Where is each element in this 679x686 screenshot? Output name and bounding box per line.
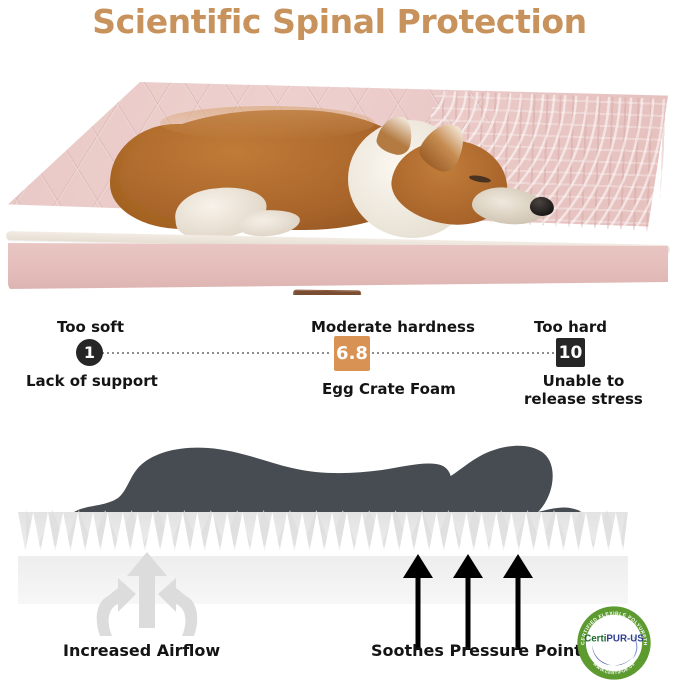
dog-back-highlight <box>160 106 375 140</box>
scale-hard-bottom-line2: release stress <box>524 390 643 408</box>
page-title: Scientific Spinal Protection <box>0 0 679 44</box>
scale-track-right <box>372 352 558 354</box>
scale-track-left <box>102 352 330 354</box>
badge-wordmark-secondary: PUR-US <box>606 633 644 644</box>
scale-soft-top-label: Too soft <box>57 318 124 336</box>
scale-hard-marker: 10 <box>556 338 585 367</box>
scale-moderate-top-label: Moderate hardness <box>311 318 475 336</box>
scale-soft-bottom-label: Lack of support <box>26 372 158 390</box>
pressure-caption: Soothes Pressure Points <box>371 641 591 660</box>
scale-hard-bottom-label: Unable to release stress <box>524 372 643 408</box>
brand-leather-tag: Bedsure <box>293 290 361 295</box>
certipur-us-badge-icon: CONTAINS CERTIFIED FLEXIBLE POLYURETHANE… <box>572 604 656 682</box>
corgi-dog <box>120 102 540 247</box>
pressure-arrows-icon <box>398 550 543 655</box>
badge-wordmark: CertiPUR-US <box>584 633 644 644</box>
scale-hard-bottom-line1: Unable to <box>543 372 625 390</box>
airflow-caption: Increased Airflow <box>63 641 220 660</box>
badge-wordmark-primary: Certi <box>584 633 607 644</box>
scale-moderate-bottom-label: Egg Crate Foam <box>322 380 456 398</box>
airflow-arrows-icon <box>70 550 220 655</box>
bed-side-panel <box>8 243 668 293</box>
scale-soft-marker: 1 <box>76 339 103 366</box>
product-photo: Bedsure <box>0 50 679 295</box>
scale-moderate-marker: 6.8 <box>334 336 370 371</box>
scale-hard-top-label: Too hard <box>534 318 607 336</box>
